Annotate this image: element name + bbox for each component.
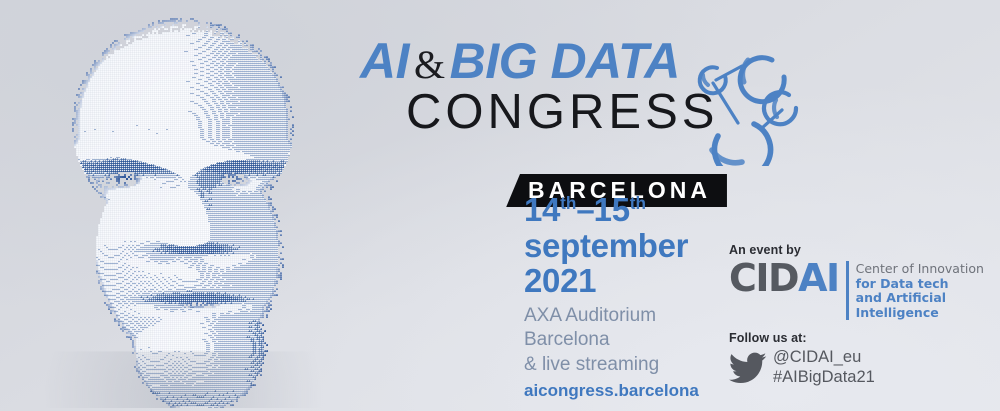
twitter-handle[interactable]: @CIDAI_eu xyxy=(773,348,875,368)
title-line-1: AI&BIG DATA xyxy=(360,36,700,86)
title-ampersand: & xyxy=(409,42,450,87)
event-dates: 14th–15th xyxy=(524,192,734,228)
cidai-wordmark-cid: CID xyxy=(729,256,798,300)
event-year: 2021 xyxy=(524,263,734,299)
event-banner: AI&BIG DATA CONGRESS BARCELONA xyxy=(0,0,1000,411)
molecule-icon xyxy=(676,38,806,166)
title-word-big: BIG xyxy=(450,33,537,89)
voxel-head-canvas xyxy=(18,4,348,408)
venue-line-2: Barcelona xyxy=(524,328,734,352)
venue-line-3: & live streaming xyxy=(524,353,734,377)
voxel-head-sculpture xyxy=(18,4,348,408)
cidai-wordmark-ai: AI xyxy=(798,256,839,300)
title-lockup: AI&BIG DATA CONGRESS BARCELONA xyxy=(360,36,700,176)
title-word-ai: AI xyxy=(360,33,409,89)
date-start-suffix: th xyxy=(560,193,576,213)
date-end-day: 15 xyxy=(594,191,630,228)
event-by-label: An event by xyxy=(729,243,984,257)
event-month: september xyxy=(524,228,734,264)
event-website-link[interactable]: aicongress.barcelona xyxy=(524,381,734,401)
venue-block: AXA Auditorium Barcelona & live streamin… xyxy=(524,304,734,377)
cidai-tagline-line-3: and Artificial Intelligence xyxy=(856,291,984,320)
title-word-data: DATA xyxy=(550,33,679,89)
twitter-bird-icon[interactable] xyxy=(729,352,767,384)
title-line-congress: CONGRESS xyxy=(406,88,700,137)
cidai-logo[interactable]: CIDAI Center of Innovation for Data tech… xyxy=(729,261,984,320)
date-end-suffix: th xyxy=(630,193,646,213)
venue-line-1: AXA Auditorium xyxy=(524,304,734,328)
social-row[interactable]: @CIDAI_eu #AIBigData21 xyxy=(729,348,984,388)
event-details: 14th–15th september 2021 AXA Auditorium … xyxy=(524,192,734,401)
cidai-tagline-line-1: Center of Innovation xyxy=(856,262,984,277)
cidai-tagline-line-2: for Data tech xyxy=(856,277,984,292)
cidai-tagline: Center of Innovation for Data tech and A… xyxy=(846,261,984,320)
date-range-dash: – xyxy=(576,191,593,228)
follow-us-label: Follow us at: xyxy=(729,331,984,345)
date-start-day: 14 xyxy=(524,191,560,228)
sponsor-and-social: An event by CIDAI Center of Innovation f… xyxy=(729,243,984,388)
cidai-wordmark: CIDAI xyxy=(729,261,839,296)
social-handles: @CIDAI_eu #AIBigData21 xyxy=(773,348,875,388)
event-hashtag[interactable]: #AIBigData21 xyxy=(773,368,875,388)
